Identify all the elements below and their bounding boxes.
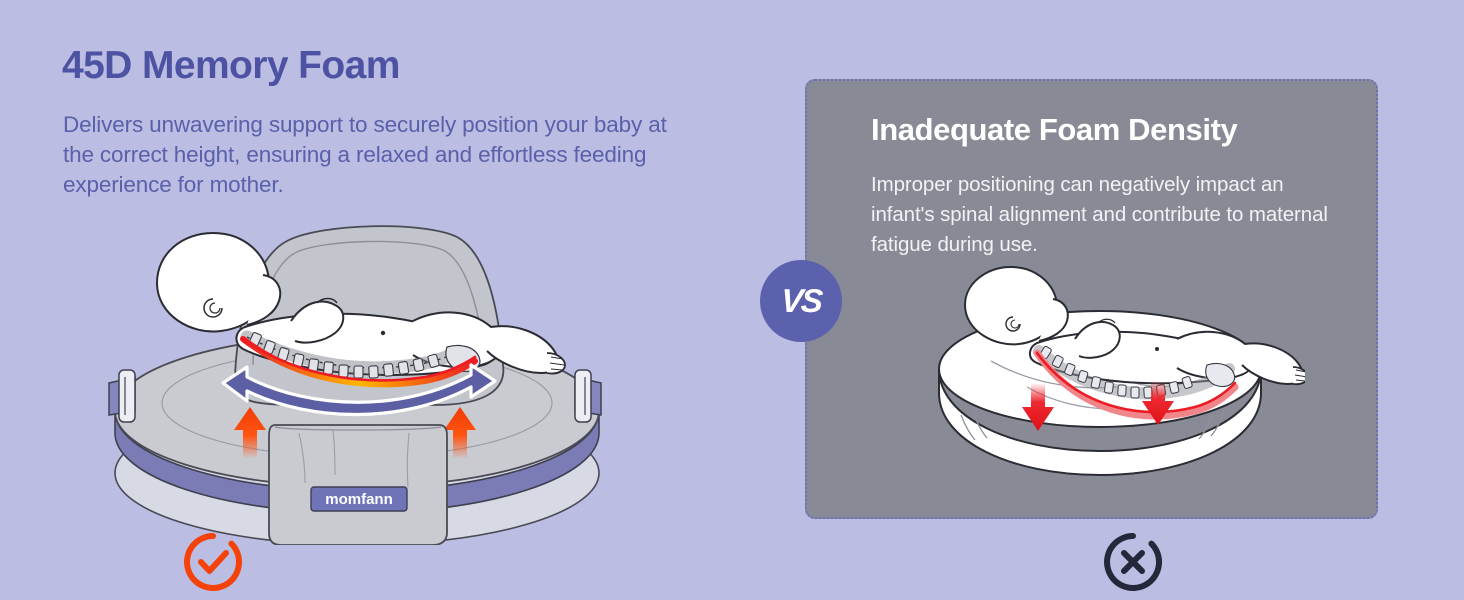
sagging-pillow-illustration [895,265,1305,515]
vs-label: VS [780,282,823,320]
strap-buckle-left [109,370,135,422]
vs-badge: VS [760,260,842,342]
right-heading: Inadequate Foam Density [871,112,1237,148]
left-section: 45D Memory Foam Delivers unwavering supp… [0,0,740,600]
brand-label-text: momfann [325,491,393,508]
cross-circle-icon [1102,531,1164,593]
left-description: Delivers unwavering support to securely … [63,110,688,200]
front-flap: momfann [269,425,447,545]
left-heading: 45D Memory Foam [62,44,400,88]
right-description: Improper positioning can negatively impa… [871,170,1351,260]
memory-foam-pillow-illustration: momfann [95,215,615,545]
strap-buckle-right [575,370,601,422]
comparison-infographic: 45D Memory Foam Delivers unwavering supp… [0,0,1464,600]
check-circle-icon [182,531,244,593]
